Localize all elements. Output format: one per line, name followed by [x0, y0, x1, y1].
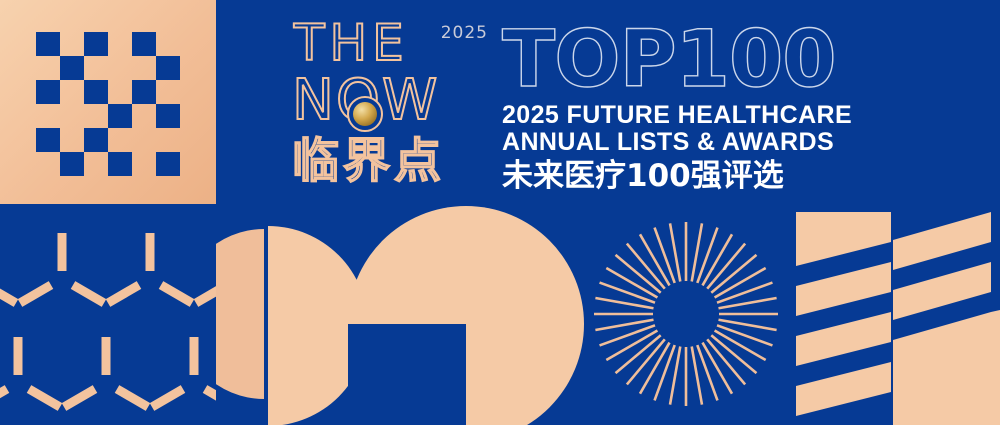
- checker-cell: [108, 104, 132, 128]
- radial-starburst: [586, 204, 786, 425]
- banner-root: THE 2025 NOW 临界点 TOP100 2025 FUTURE HEAL…: [0, 0, 1000, 425]
- starburst-svg: [586, 204, 786, 425]
- lattice-segment: [73, 285, 104, 303]
- checker-cell: [60, 56, 84, 80]
- top100-headline: TOP100: [502, 22, 852, 98]
- checker-cell: [84, 32, 108, 56]
- lattice-segment: [196, 285, 216, 303]
- stripes-svg: [786, 204, 1000, 425]
- logo-year-2025: 2025: [441, 25, 488, 42]
- lattice-segment: [29, 389, 60, 407]
- diagonal-stripes-pattern: [786, 204, 1000, 425]
- checkerboard-block: [0, 0, 216, 204]
- lattice-segment: [205, 389, 216, 407]
- checker-cell: [84, 128, 108, 152]
- lattice-segment: [152, 389, 183, 407]
- checker-cell: [60, 152, 84, 176]
- checker-cell: [156, 104, 180, 128]
- lattice-segment: [64, 389, 95, 407]
- checker-cell: [84, 80, 108, 104]
- checker-cell: [132, 32, 156, 56]
- logo-word-the: THE: [294, 18, 409, 68]
- circle-with-notch: [348, 206, 584, 425]
- checker-cell: [108, 152, 132, 176]
- title-block: TOP100 2025 FUTURE HEALTHCARE ANNUAL LIS…: [502, 22, 852, 194]
- title-chinese: 未来医疗100强评选: [502, 158, 852, 194]
- lattice-segment: [0, 285, 16, 303]
- lattice-segment: [108, 285, 139, 303]
- checkerboard-pattern: [36, 32, 180, 176]
- title-line-2: ANNUAL LISTS & AWARDS: [502, 129, 852, 156]
- checker-cell: [36, 128, 60, 152]
- lattice-segment: [117, 389, 148, 407]
- checker-cell: [132, 80, 156, 104]
- gold-sphere-icon: [347, 96, 383, 132]
- semicircle-shapes: [216, 204, 586, 425]
- hexagon-lattice-pattern: [0, 204, 216, 425]
- hexagon-lattice-svg: [0, 204, 216, 425]
- the-now-logo: THE 2025 NOW 临界点: [292, 18, 492, 194]
- lattice-segment: [0, 389, 7, 407]
- semicircle-left: [216, 229, 264, 399]
- semicircle-svg: [216, 204, 586, 425]
- checker-cell: [156, 152, 180, 176]
- stripes-left-group: [796, 212, 891, 416]
- lattice-segment: [20, 285, 51, 303]
- checker-cell: [36, 80, 60, 104]
- stripes-right-group: [893, 212, 1000, 425]
- logo-chinese-name: 临界点: [292, 136, 492, 188]
- checker-cell: [36, 32, 60, 56]
- title-line-1: 2025 FUTURE HEALTHCARE: [502, 102, 852, 129]
- the-now-wordmark: THE 2025 NOW: [292, 18, 492, 136]
- lattice-segment: [161, 285, 192, 303]
- checker-cell: [156, 56, 180, 80]
